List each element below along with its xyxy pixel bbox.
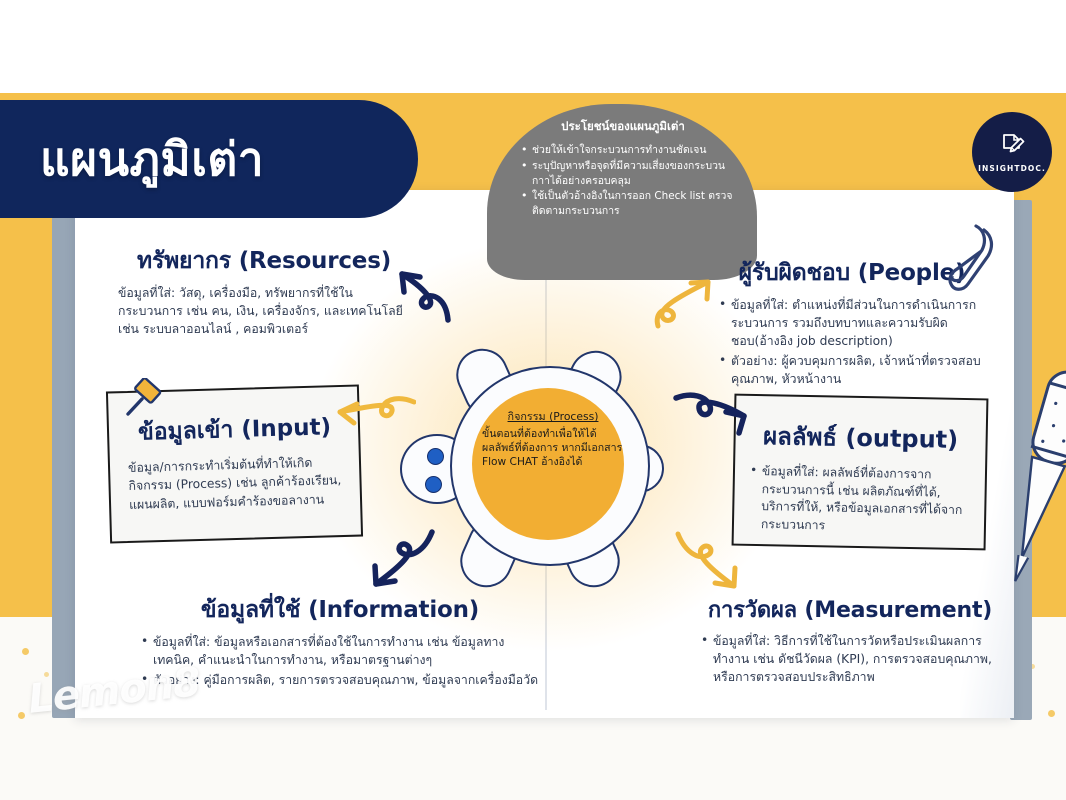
benefits-item: ใช้เป็นตัวอ้างอิงในการออก Check list ตรว… bbox=[521, 189, 741, 219]
section-resources: ทรัพยากร (Resources) ข้อมูลที่ใส่: วัสดุ… bbox=[118, 243, 410, 339]
section-people-item: ตัวอย่าง: ผู้ควบคุมการผลิต, เจ้าหน้าที่ต… bbox=[718, 353, 986, 389]
arrow-to-measurement-icon bbox=[668, 530, 748, 600]
brand-label: INSIGHTDOC. bbox=[978, 164, 1046, 173]
arrow-to-information-icon bbox=[362, 528, 440, 598]
benefits-callout: ประโยชน์ของแผนภูมิเต่า ช่วยให้เข้าใจกระบ… bbox=[487, 104, 757, 280]
confetti-dot bbox=[22, 648, 29, 655]
process-heading: กิจกรรม (Process) bbox=[482, 410, 624, 425]
section-measurement-list: ข้อมูลที่ใส่: วิธีการที่ใช้ในการวัดหรือป… bbox=[700, 633, 1000, 687]
arrow-to-resources-icon bbox=[388, 258, 460, 330]
section-resources-heading: ทรัพยากร (Resources) bbox=[118, 243, 410, 279]
paperclip-icon bbox=[948, 222, 1000, 294]
section-information-item: ข้อมูลที่ใส่: ข้อมูลหรือเอกสารที่ต้องใช้… bbox=[140, 634, 540, 670]
section-information-list: ข้อมูลที่ใส่: ข้อมูลหรือเอกสารที่ต้องใช้… bbox=[140, 634, 540, 690]
benefits-title: ประโยชน์ของแผนภูมิเต่า bbox=[505, 118, 741, 136]
page-title: แผนภูมิเต่า bbox=[0, 123, 264, 196]
benefits-item: ช่วยให้เข้าใจกระบวนการทำงานชัดเจน bbox=[521, 143, 741, 158]
section-resources-body: ข้อมูลที่ใส่: วัสดุ, เครื่องมือ, ทรัพยาก… bbox=[118, 285, 410, 339]
section-output-item: ข้อมูลที่ใส่: ผลลัพธ์ที่ต้องการจากกระบวน… bbox=[748, 463, 971, 538]
pushpin-icon bbox=[122, 378, 164, 420]
section-measurement: การวัดผล (Measurement) ข้อมูลที่ใส่: วิธ… bbox=[700, 592, 1000, 689]
benefits-item: ระบุปัญหาหรือจุดที่มีความเสี่ยงของกระบวน… bbox=[521, 159, 741, 189]
process-circle: กิจกรรม (Process) ขั้นตอนที่ต้องทำเพื่อใ… bbox=[472, 388, 624, 540]
section-input-body: ข้อมูล/การกระทำเริ่มต้นที่ทำให้เกิดกิจกร… bbox=[128, 453, 344, 514]
arrow-to-people-icon bbox=[652, 268, 730, 338]
section-people-item: ข้อมูลที่ใส่: ตำแหน่งที่มีส่วนในการดำเนิ… bbox=[718, 297, 986, 351]
arrow-to-output-icon bbox=[672, 390, 752, 446]
confetti-dot bbox=[18, 712, 25, 719]
section-information: ข้อมูลที่ใช้ (Information) ข้อมูลที่ใส่:… bbox=[140, 592, 540, 692]
document-pencil-icon bbox=[998, 132, 1026, 160]
process-body: ขั้นตอนที่ต้องทำเพื่อให้ได้ผลลัพธ์ที่ต้อ… bbox=[482, 428, 622, 469]
confetti-dot bbox=[1048, 710, 1055, 717]
section-output-list: ข้อมูลที่ใส่: ผลลัพธ์ที่ต้องการจากกระบวน… bbox=[748, 463, 971, 538]
card-output: ผลลัพธ์ (output) ข้อมูลที่ใส่: ผลลัพธ์ที… bbox=[732, 394, 989, 551]
section-people-list: ข้อมูลที่ใส่: ตำแหน่งที่มีส่วนในการดำเนิ… bbox=[718, 297, 986, 389]
infographic-canvas: แผนภูมิเต่า INSIGHTDOC. ประโยชน์ของแผนภู… bbox=[0, 0, 1066, 800]
brand-badge[interactable]: INSIGHTDOC. bbox=[972, 112, 1052, 192]
section-people-heading: ผู้รับผิดชอบ (People) bbox=[718, 255, 986, 291]
turtle-eye bbox=[427, 448, 444, 465]
arrow-to-input-icon bbox=[330, 392, 416, 448]
turtle-eye bbox=[425, 476, 442, 493]
section-measurement-item: ข้อมูลที่ใส่: วิธีการที่ใช้ในการวัดหรือป… bbox=[700, 633, 1000, 687]
section-information-heading: ข้อมูลที่ใช้ (Information) bbox=[140, 592, 540, 628]
page-title-pill: แผนภูมิเต่า bbox=[0, 100, 418, 218]
benefits-list: ช่วยให้เข้าใจกระบวนการทำงานชัดเจน ระบุปั… bbox=[505, 143, 741, 219]
section-people: ผู้รับผิดชอบ (People) ข้อมูลที่ใส่: ตำแห… bbox=[718, 255, 986, 391]
section-output-heading: ผลลัพธ์ (output) bbox=[749, 416, 972, 459]
